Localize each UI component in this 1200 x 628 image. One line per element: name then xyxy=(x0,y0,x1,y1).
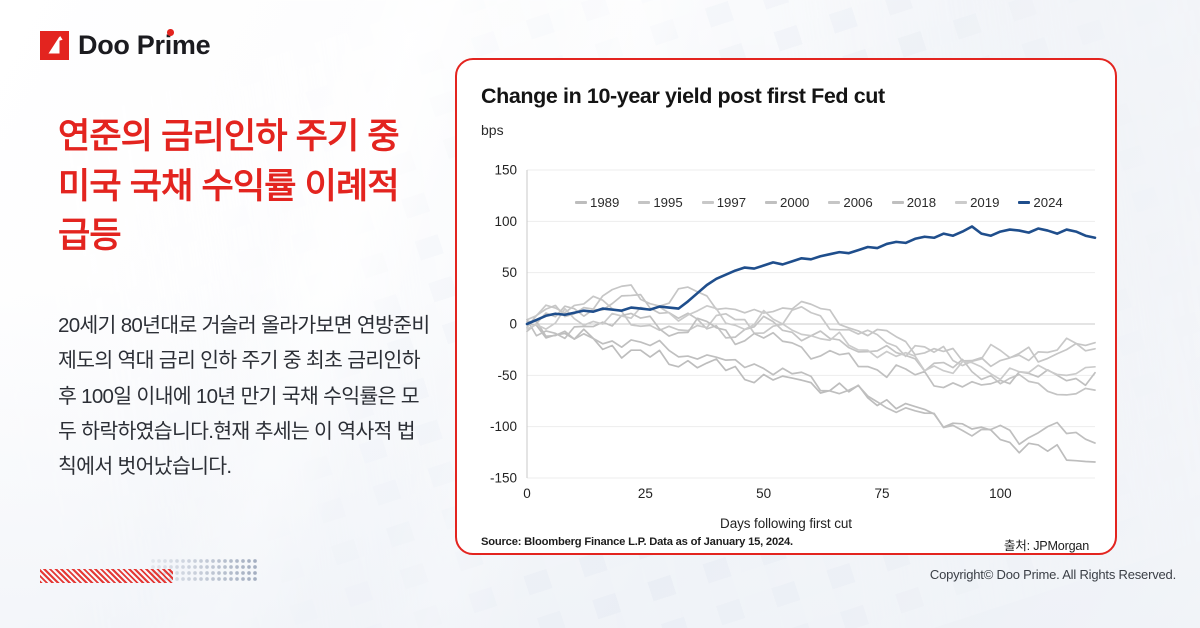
legend-item-2024[interactable]: 2024 xyxy=(1018,195,1062,210)
chart-plot-area: 150100500-50-100-150 0255075100 xyxy=(471,160,1105,510)
legend-item-2000[interactable]: 2000 xyxy=(765,195,809,210)
decorative-red-hatch xyxy=(40,569,173,583)
chart-x-axis-label: Days following first cut xyxy=(457,516,1115,531)
series-line-2019 xyxy=(527,306,1095,380)
legend-swatch-icon xyxy=(828,201,840,204)
legend-label: 2019 xyxy=(970,195,999,210)
chart-card: Change in 10-year yield post first Fed c… xyxy=(455,58,1117,555)
legend-label: 2006 xyxy=(843,195,872,210)
chart-svg: 150100500-50-100-150 0255075100 xyxy=(471,160,1105,510)
legend-label: 1997 xyxy=(717,195,746,210)
doo-prime-square-mark-icon xyxy=(40,31,69,60)
chart-x-axis-ticks: 0255075100 xyxy=(523,486,1011,501)
footer-copyright: Copyright© Doo Prime. All Rights Reserve… xyxy=(930,567,1176,582)
y-tick-label: -50 xyxy=(497,368,517,383)
legend-label: 2024 xyxy=(1033,195,1062,210)
y-tick-label: -100 xyxy=(490,419,517,434)
y-tick-label: -150 xyxy=(490,471,517,486)
x-tick-label: 50 xyxy=(756,486,771,501)
legend-swatch-icon xyxy=(765,201,777,204)
chart-title: Change in 10-year yield post first Fed c… xyxy=(481,84,885,109)
chart-unit-label: bps xyxy=(481,122,504,138)
page-headline: 연준의 금리인하 주기 중 미국 국채 수익률 이례적 급등 xyxy=(58,112,438,261)
chart-source-note: Source: Bloomberg Finance L.P. Data as o… xyxy=(481,536,793,548)
chart-gridlines xyxy=(527,170,1095,478)
legend-swatch-icon xyxy=(1018,201,1030,204)
legend-item-1995[interactable]: 1995 xyxy=(638,195,682,210)
y-tick-label: 0 xyxy=(509,317,517,332)
page-body-copy: 20세기 80년대로 거슬러 올라가보면 연방준비제도의 역대 금리 인하 주기… xyxy=(58,308,430,484)
y-tick-label: 100 xyxy=(494,214,517,229)
chart-y-axis-ticks: 150100500-50-100-150 xyxy=(490,163,517,486)
legend-swatch-icon xyxy=(638,201,650,204)
series-line-1989 xyxy=(527,323,1095,462)
legend-label: 1995 xyxy=(653,195,682,210)
legend-swatch-icon xyxy=(892,201,904,204)
legend-label: 2018 xyxy=(907,195,936,210)
legend-item-2018[interactable]: 2018 xyxy=(892,195,936,210)
legend-item-2006[interactable]: 2006 xyxy=(828,195,872,210)
chart-legend: 19891995199720002006201820192024 xyxy=(575,195,1063,210)
brand-logo: Doo Prime xyxy=(40,31,210,60)
x-tick-label: 100 xyxy=(989,486,1012,501)
chart-source-credit: 출처: JPMorgan xyxy=(1004,535,1089,554)
series-line-1997 xyxy=(527,296,1095,365)
legend-item-1989[interactable]: 1989 xyxy=(575,195,619,210)
brand-logo-text: Doo Prime xyxy=(78,32,210,59)
left-content-column: Doo Prime 연준의 금리인하 주기 중 미국 국채 수익률 이례적 급등… xyxy=(0,0,450,628)
y-tick-label: 50 xyxy=(502,265,517,280)
legend-item-2019[interactable]: 2019 xyxy=(955,195,999,210)
y-tick-label: 150 xyxy=(494,163,517,178)
series-line-2024 xyxy=(527,226,1095,324)
logo-i-dot xyxy=(167,29,174,36)
decorative-pattern-bar xyxy=(40,558,258,588)
x-tick-label: 0 xyxy=(523,486,531,501)
legend-label: 2000 xyxy=(780,195,809,210)
x-tick-label: 75 xyxy=(874,486,889,501)
x-tick-label: 25 xyxy=(638,486,653,501)
legend-swatch-icon xyxy=(575,201,587,204)
legend-item-1997[interactable]: 1997 xyxy=(702,195,746,210)
legend-swatch-icon xyxy=(955,201,967,204)
legend-swatch-icon xyxy=(702,201,714,204)
legend-label: 1989 xyxy=(590,195,619,210)
